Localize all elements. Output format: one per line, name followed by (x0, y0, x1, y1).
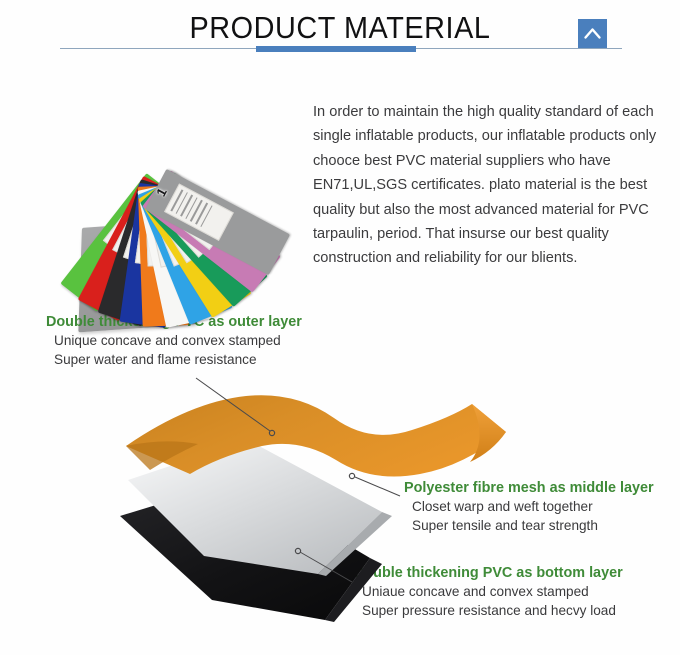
outer-layer-sheet (126, 395, 506, 476)
outer-layer-line-2: Super water and flame resistance (46, 351, 302, 370)
intro-paragraph: In order to maintain the high quality st… (313, 100, 665, 271)
title-divider-accent (256, 46, 416, 52)
chevron-up-icon[interactable] (578, 19, 607, 48)
outer-layer-line-1: Unique concave and convex stamped (46, 332, 302, 351)
page-title: PRODUCT MATERIAL (24, 10, 656, 46)
layer-diagram-section: Double thickening PVC as outer layer Uni… (0, 300, 680, 655)
pvc-color-swatch-fan-image: 1234567891011 (42, 74, 310, 256)
page-header: PRODUCT MATERIAL (0, 0, 680, 60)
three-layer-illustration (120, 388, 540, 638)
product-material-page: PRODUCT MATERIAL 1234567891011 In order … (0, 0, 680, 655)
